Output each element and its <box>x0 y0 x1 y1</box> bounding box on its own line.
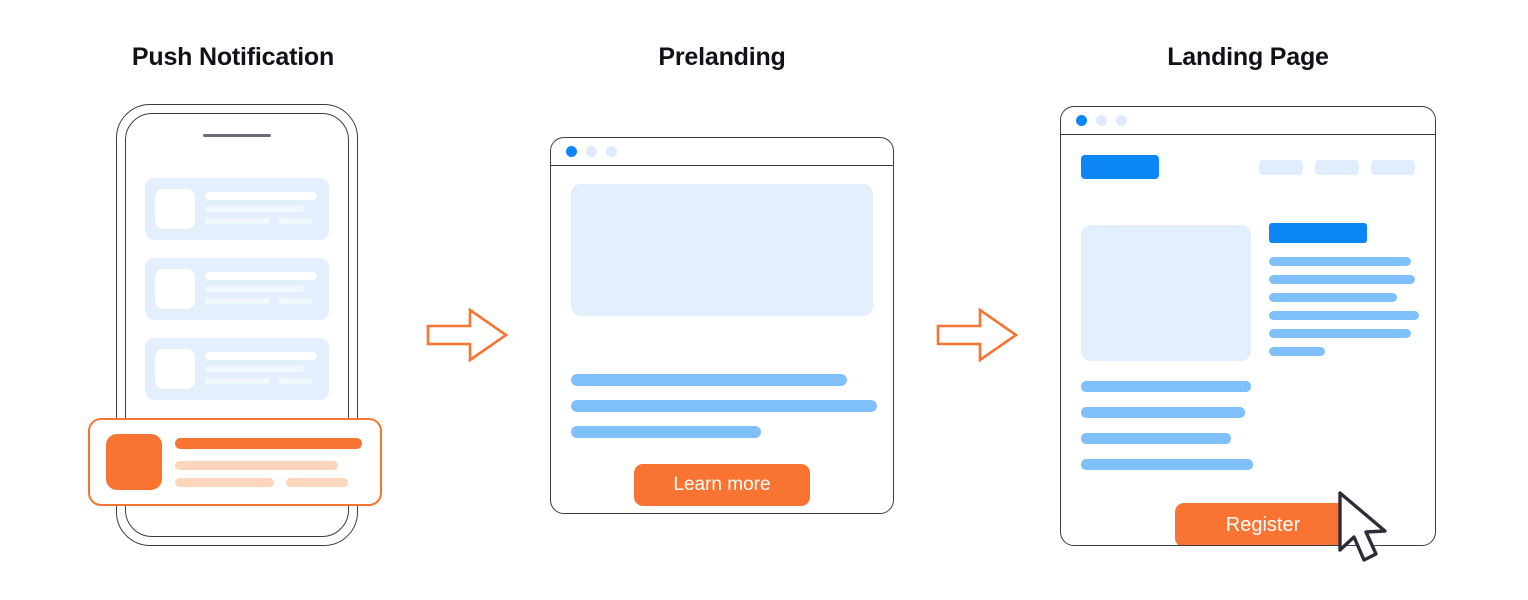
content-line <box>571 400 877 412</box>
app-icon <box>106 434 162 490</box>
arrow-push-to-prelanding <box>424 305 510 365</box>
notification-meta-lines <box>205 218 317 224</box>
content-line <box>1081 407 1245 418</box>
content-line <box>1081 433 1231 444</box>
list-item[interactable] <box>145 258 329 320</box>
site-logo[interactable] <box>1081 155 1159 179</box>
arrow-right-icon <box>424 305 510 365</box>
notification-text <box>205 272 317 304</box>
notification-meta-lines <box>205 298 317 304</box>
list-item[interactable] <box>145 178 329 240</box>
content-line <box>571 426 761 438</box>
push-body-line <box>175 461 338 470</box>
hero-image-placeholder <box>571 184 873 316</box>
register-button[interactable]: Register <box>1175 503 1351 546</box>
notification-meta-lines <box>205 378 317 384</box>
notification-title-line <box>205 272 317 280</box>
app-icon <box>155 269 195 309</box>
notification-title-line <box>205 352 317 360</box>
navigation-bar <box>1259 160 1415 175</box>
landing-browser-window: Register <box>1060 106 1436 546</box>
push-title-line <box>175 438 362 449</box>
nav-item[interactable] <box>1371 160 1415 175</box>
speaker-grille-icon <box>203 134 271 137</box>
notification-list <box>145 178 329 418</box>
window-dot-active[interactable] <box>1076 115 1087 126</box>
window-dot-idle[interactable] <box>1116 115 1127 126</box>
notification-body-line <box>205 206 304 212</box>
stage-title-push-notification: Push Notification <box>82 43 384 72</box>
nav-item[interactable] <box>1315 160 1359 175</box>
content-line <box>1269 347 1325 356</box>
content-image-placeholder <box>1081 225 1251 361</box>
highlighted-push-notification[interactable] <box>88 418 382 506</box>
content-line <box>1269 275 1415 284</box>
arrow-prelanding-to-landing <box>934 305 1020 365</box>
stage-title-landing-page: Landing Page <box>1097 43 1399 72</box>
push-notification-text <box>175 438 362 487</box>
headline-block <box>1269 223 1367 243</box>
content-line <box>571 374 847 386</box>
notification-text <box>205 192 317 224</box>
stage-title-prelanding: Prelanding <box>571 43 873 72</box>
browser-title-bar <box>1061 107 1435 135</box>
notification-body-line <box>205 366 304 372</box>
notification-body-line <box>205 286 304 292</box>
content-line <box>1269 257 1411 266</box>
list-item[interactable] <box>145 338 329 400</box>
app-icon <box>155 189 195 229</box>
app-icon <box>155 349 195 389</box>
window-dot-active[interactable] <box>566 146 577 157</box>
arrow-right-icon <box>934 305 1020 365</box>
content-line <box>1269 329 1411 338</box>
notification-title-line <box>205 192 317 200</box>
prelanding-browser-window: Learn more <box>550 137 894 514</box>
content-line <box>1269 293 1397 302</box>
window-dot-idle[interactable] <box>1096 115 1107 126</box>
push-meta-lines <box>175 478 362 487</box>
content-line <box>1081 459 1253 470</box>
notification-text <box>205 352 317 384</box>
content-line <box>1269 311 1419 320</box>
nav-item[interactable] <box>1259 160 1303 175</box>
content-line <box>1081 381 1251 392</box>
window-dot-idle[interactable] <box>606 146 617 157</box>
browser-title-bar <box>551 138 893 166</box>
window-dot-idle[interactable] <box>586 146 597 157</box>
learn-more-button[interactable]: Learn more <box>634 464 810 506</box>
